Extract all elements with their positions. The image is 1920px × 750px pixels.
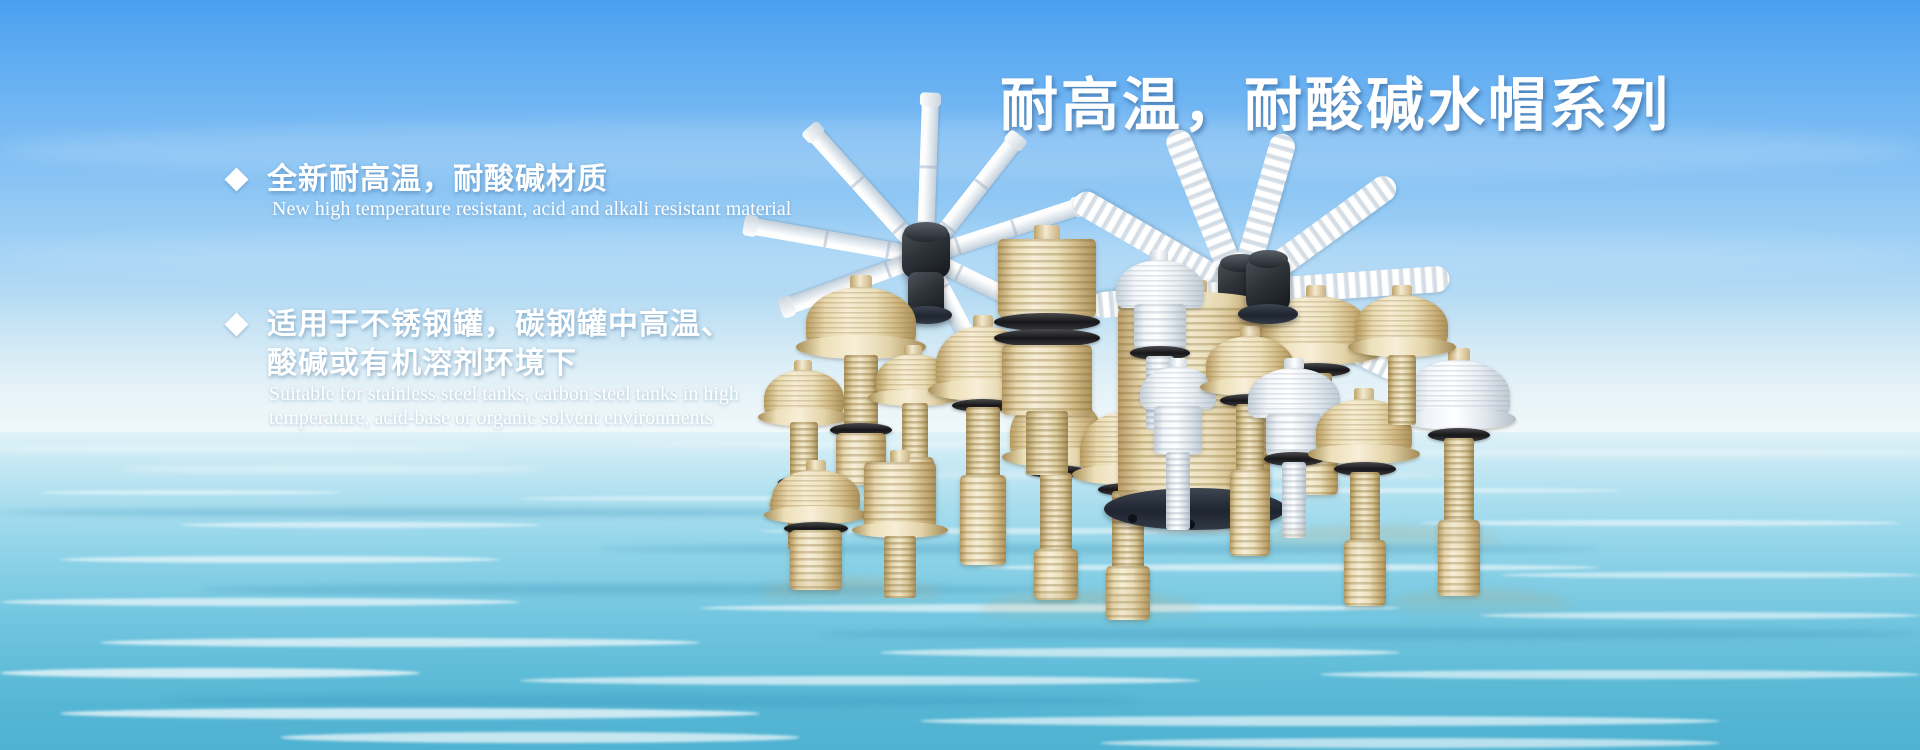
- nozzle-drum: [1154, 406, 1202, 454]
- nozzle-stem: [1282, 462, 1306, 538]
- product-reflection: [980, 592, 1200, 624]
- nozzle-stem: [1166, 452, 1190, 530]
- feature-1-title-cn: 全新耐高温，耐酸碱材质: [267, 163, 608, 196]
- nozzle-stem: [1040, 473, 1072, 553]
- diamond-bullet-icon: [224, 312, 248, 336]
- product-reflection: [1260, 526, 1500, 554]
- feature-2-subtitle-en-line2: temperature, acid-base or organic solven…: [269, 406, 739, 431]
- banner-stage: 耐高温，耐酸碱水帽系列 全新耐高温，耐酸碱材质 New high tempera…: [0, 0, 1920, 750]
- feature-bullet-2: 适用于不锈钢罐，碳钢罐中高温、 酸碱或有机溶剂环境下 Suitable for …: [228, 305, 739, 431]
- nozzle-skirt: [1348, 337, 1456, 357]
- nozzle-unit-tall: [992, 225, 1102, 475]
- nozzle-unit-dark-hub: [1220, 238, 1316, 338]
- diamond-bullet-icon: [224, 167, 248, 191]
- feature-2-title-cn-line2: 酸碱或有机溶剂环境下: [267, 347, 577, 380]
- nozzle-drum-lower: [1002, 345, 1092, 415]
- nozzle-drum: [1134, 304, 1186, 350]
- feature-2-subtitle-en-line1: Suitable for stainless steel tanks, carb…: [269, 382, 739, 407]
- nozzle-stem: [1026, 411, 1068, 475]
- nozzle-unit: [1346, 285, 1458, 425]
- product-reflection: [760, 578, 940, 608]
- nozzle-dome: [1116, 260, 1204, 308]
- nozzle-drum: [998, 239, 1096, 317]
- dark-hub-cap: [1248, 250, 1288, 268]
- lateral-hub-cap: [904, 222, 948, 242]
- water-cap-nozzle-product-group: [700, 130, 1760, 550]
- nozzle-stem: [1444, 438, 1474, 524]
- feature-2-title-cn-line1: 适用于不锈钢罐，碳钢罐中高温、: [267, 308, 732, 341]
- dark-hub-flange: [1238, 304, 1298, 324]
- nozzle-drum: [864, 462, 936, 528]
- product-reflection: [1390, 590, 1570, 618]
- nozzle-stem: [1388, 355, 1416, 425]
